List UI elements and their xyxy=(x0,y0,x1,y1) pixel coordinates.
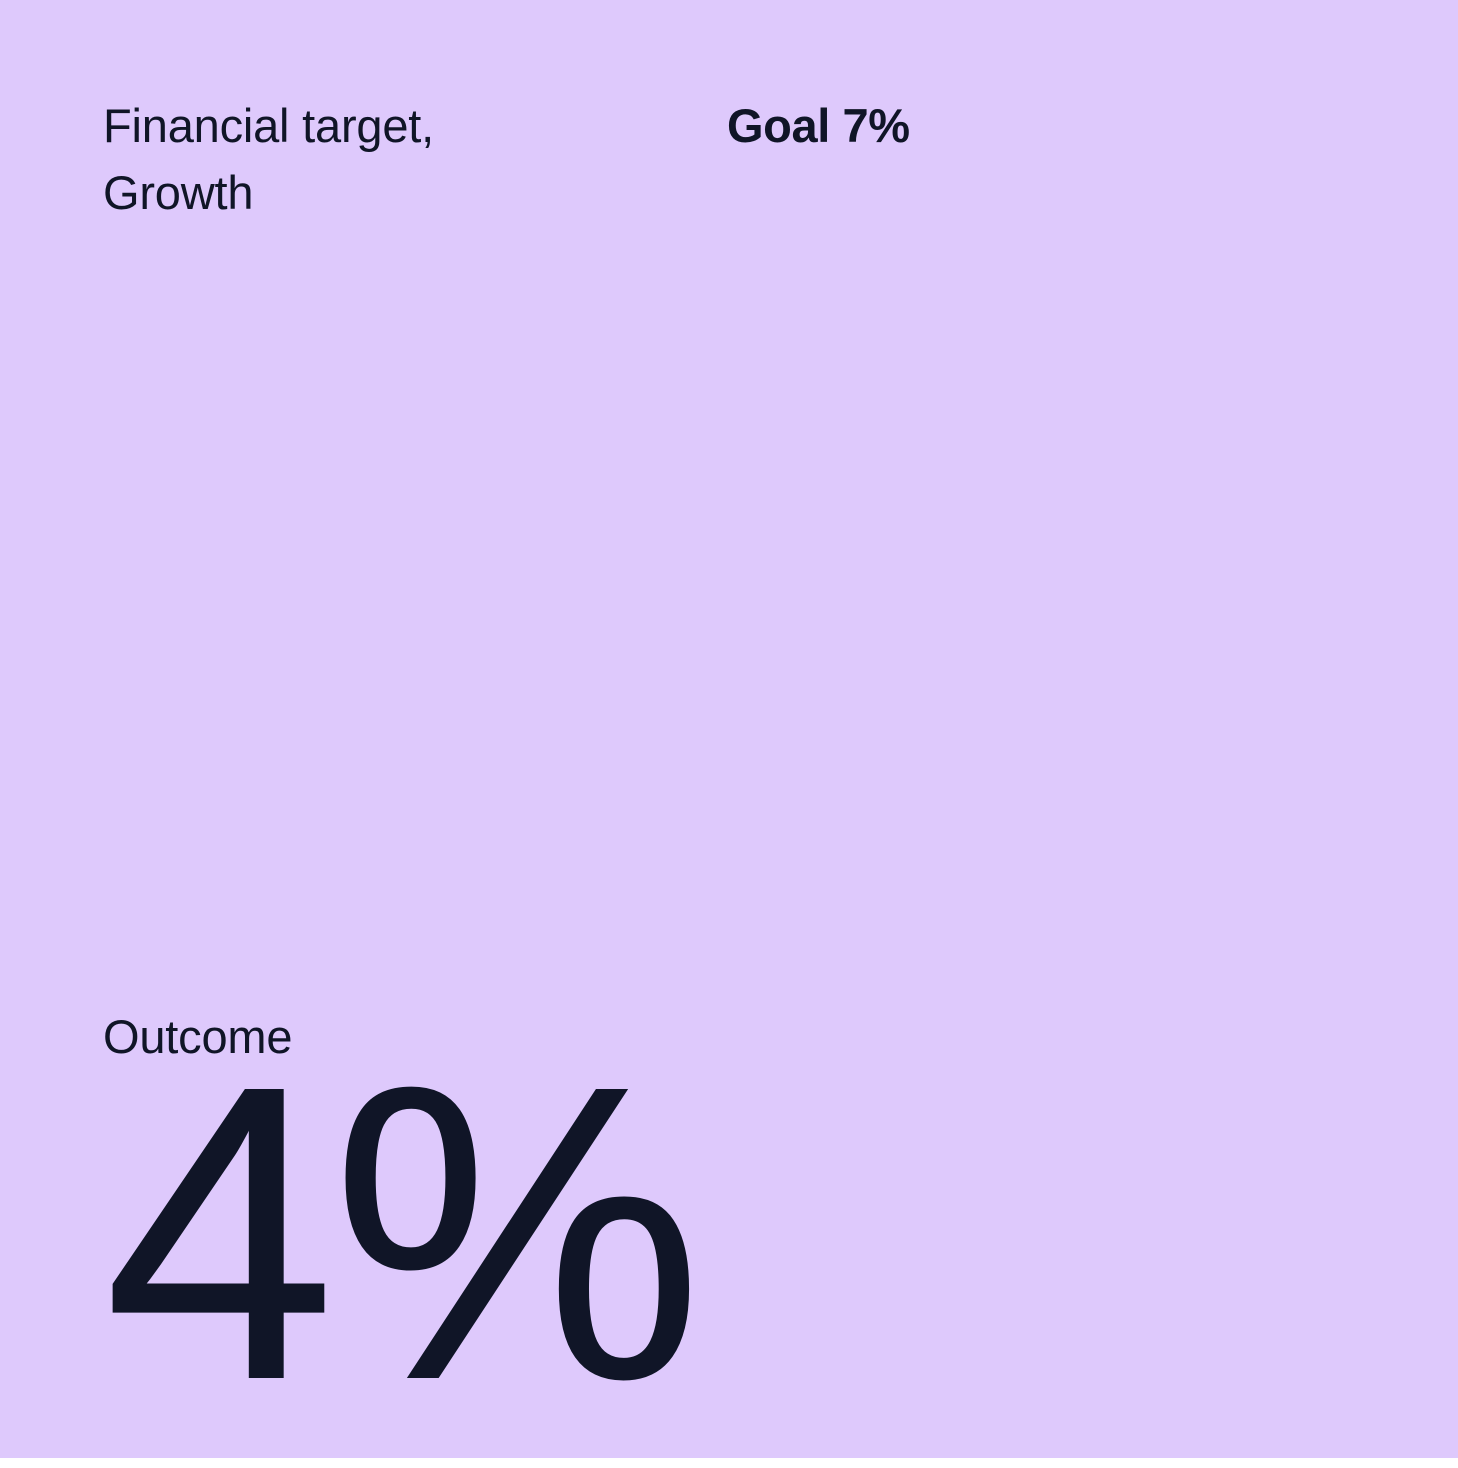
outcome-value: 4% xyxy=(103,1079,698,1390)
card-header: Financial target, Growth Goal 7% xyxy=(103,92,1355,226)
goal-value: Goal 7% xyxy=(727,92,910,159)
page-title: Financial target, Growth xyxy=(103,92,727,226)
outcome-block: Outcome 4% xyxy=(103,1009,698,1390)
financial-target-card: Financial target, Growth Goal 7% Outcome… xyxy=(0,0,1458,1458)
